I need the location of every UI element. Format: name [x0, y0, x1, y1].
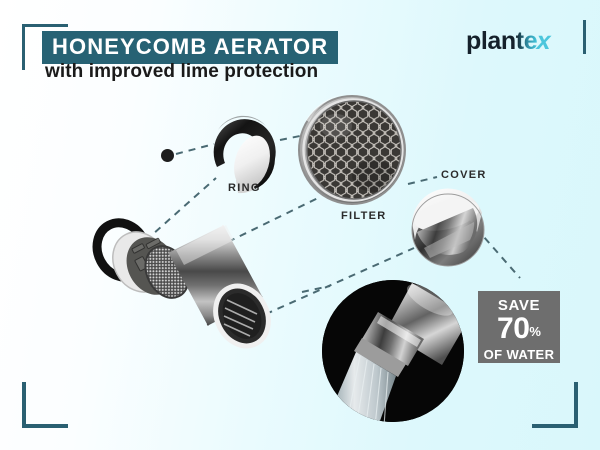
advertisement-canvas: HONEYCOMB AERATOR with improved lime pro…: [0, 0, 600, 450]
callout-label-cover: COVER: [441, 169, 487, 181]
honeycomb-filter: [299, 94, 412, 207]
save-badge: SAVE 70% OF WATER: [478, 291, 560, 363]
exploded-view-diagram: [0, 0, 600, 450]
aerator-cover: [412, 189, 484, 266]
callout-label-filter: FILTER: [341, 210, 386, 222]
save-badge-percent-symbol: %: [529, 324, 541, 339]
faucet-water-stream-photo: [322, 278, 470, 432]
save-badge-value: 70: [497, 312, 529, 345]
leader-dot: [161, 149, 174, 162]
save-badge-value-row: 70%: [478, 314, 560, 347]
save-badge-line-three: OF WATER: [478, 347, 560, 362]
assembled-aerator: [88, 214, 279, 355]
callout-label-ring: RING: [228, 182, 261, 194]
